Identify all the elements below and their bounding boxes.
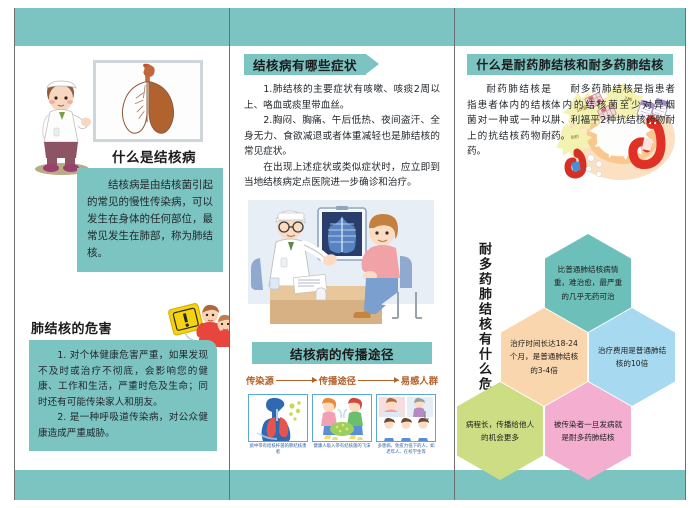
section-title-drug-resistant-tb: 什么是耐药肺结核和耐多药肺结核 [467,54,673,75]
section-body-tb-symptoms: 1.肺结核的主要症状有咳嗽、咳痰2周以上、咯血或痰里带血丝。 2.胸闷、胸痛、午… [244,82,440,191]
section-body-drug-resistant-tb: 耐药肺结核是指患者体内的结核菌对一种或一种以上的抗结核药物耐药。 耐多药肺结核是… [467,82,675,160]
transmission-caption-source: 痰中带有结核杆菌的肺结核患者 [248,444,308,456]
transmission-caption-susceptible: 多患病、免疫力低下的人，如老年人、在校学生等 [376,444,436,456]
brochure-page: 什么是结核病 结核病是由结核菌引起的常见的慢性传染病，可以发生在身体的任何部位，… [0,0,700,508]
section-title-what-is-tb: 什么是结核病 [89,146,219,166]
section-title-transmission: 结核病的传播途径 [252,342,432,364]
section-body-what-is-tb: 结核病是由结核菌引起的常见的慢性传染病，可以发生在身体的任何部位，最常见发生在肺… [77,168,223,272]
symptom-item-2: 2.胸闷、胸痛、午后低热、夜间盗汗、全身无力、食欲减退或者体重减轻也是肺结核的常… [244,113,440,160]
panel-left-top-bar [15,8,229,46]
chain-arrow-2 [358,380,399,381]
chain-label-route: 传播途径 [319,373,356,387]
hexagon-severity-text: 比普通肺结核病情重，难治愈，最严重的几乎无药可治 [552,263,624,303]
panel-right-body: 什么是耐药肺结核和耐多药肺结核 10倍 2种 [455,46,685,470]
hexagon-cost-text: 治疗费用是普通肺结核的10倍 [596,344,668,371]
transmission-image-route [312,394,372,442]
transmission-image-source [248,394,308,442]
lungs-anatomy-image [93,60,203,142]
panel-right-bottom-bar [455,470,685,500]
section-body-tb-harm: 1. 对个体健康危害严重，如果发现不及时或治疗不彻底，会影响您的健康、工作和生活… [29,340,217,451]
section-title-tb-symptoms: 结核病有哪些症状 [244,54,366,75]
hexagon-infected-text: 被传染者一旦发病就是耐多药肺结核 [552,418,624,445]
panel-middle-top-bar [230,8,454,46]
panel-middle-bottom-bar [230,470,454,500]
hexagon-long-course-text: 病程长，传播给他人的机会更多 [464,418,536,445]
what-is-tb-paragraph: 结核病是由结核菌引起的常见的慢性传染病，可以发生在身体的任何部位，最常见发生在肺… [87,177,213,262]
transmission-card: 痰中带有结核杆菌的肺结核患者 [248,394,308,456]
symptom-item-3: 在出现上述症状或类似症状时，应立即到当地结核病定点医院进一步确诊和治疗。 [244,160,440,191]
panel-right: 什么是耐药肺结核和耐多药肺结核 10倍 2种 [455,8,686,500]
section-title-tb-harm: 肺结核的危害 [31,318,112,337]
chain-label-source: 传染源 [246,373,274,387]
tb-harm-item-1: 1. 对个体健康危害严重，如果发现不及时或治疗不彻底，会影响您的健康、工作和生活… [38,348,208,410]
transmission-chain: 传染源 传播途径 易感人群 [246,372,438,388]
transmission-card-row: 痰中带有结核杆菌的肺结核患者 [248,394,436,456]
panel-middle: 结核病有哪些症状 1.肺结核的主要症状有咳嗽、咳痰2周以上、咯血或痰里带血丝。 … [230,8,455,500]
transmission-card: 多患病、免疫力低下的人，如老年人、在校学生等 [376,394,436,456]
tb-harm-item-2: 2. 是一种呼吸道传染病，对公众健康造成严重威胁。 [38,410,208,441]
panel-middle-body: 结核病有哪些症状 1.肺结核的主要症状有咳嗽、咳痰2周以上、咯血或痰里带血丝。 … [230,46,454,470]
hexagon-duration-text: 治疗时间长达18-24个月，是普通肺结核的3-4倍 [508,337,580,377]
chain-label-susceptible: 易感人群 [401,373,438,387]
transmission-card: 健康人吸入带有结核菌的飞沫 [312,394,372,456]
panel-left-bottom-bar [15,470,229,500]
consultation-scene-illustration [248,200,434,332]
panel-container: 什么是结核病 结核病是由结核菌引起的常见的慢性传染病，可以发生在身体的任何部位，… [14,8,686,500]
chain-arrow-1 [276,380,317,381]
symptom-item-1: 1.肺结核的主要症状有咳嗽、咳痰2周以上、咯血或痰里带血丝。 [244,82,440,113]
hexagon-diagram: 比普通肺结核病情重，难治愈，最严重的几乎无药可治 治疗费用是普通肺结核的10倍 … [455,234,686,474]
panel-left-body: 什么是结核病 结核病是由结核菌引起的常见的慢性传染病，可以发生在身体的任何部位，… [15,46,229,470]
transmission-caption-route: 健康人吸入带有结核菌的飞沫 [312,444,372,450]
panel-left: 什么是结核病 结核病是由结核菌引起的常见的慢性传染病，可以发生在身体的任何部位，… [14,8,230,500]
transmission-image-susceptible [376,394,436,442]
drug-resistant-paragraph-1: 耐药肺结核是指患者体内的结核菌对一种或一种以上的抗结核药物耐药。 [467,82,551,160]
panel-right-top-bar [455,8,685,46]
